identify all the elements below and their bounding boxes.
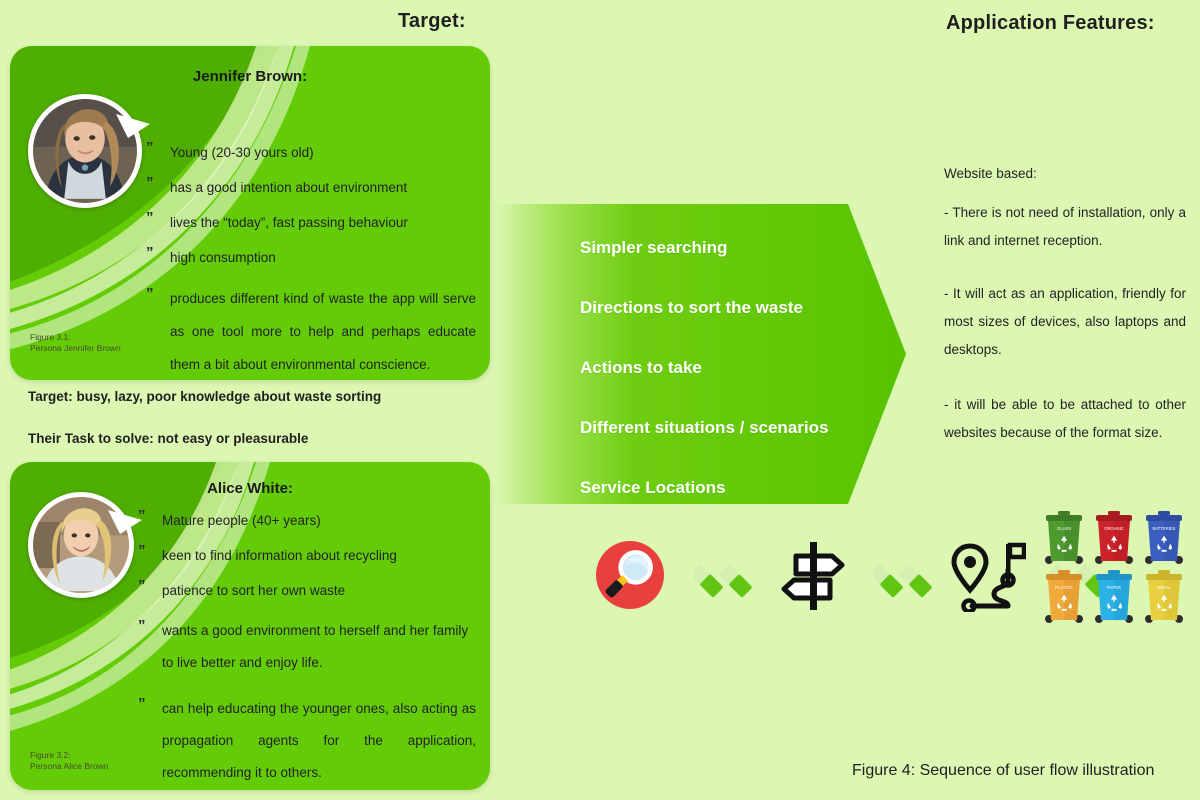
page-title-application-features: Application Features:	[946, 12, 1155, 35]
list-item: ” can help educating the younger ones, a…	[138, 693, 476, 789]
list-item: ” produces different kind of waste the a…	[146, 282, 476, 380]
bin-plastic: PLASTIC	[1045, 570, 1083, 623]
list-item: ” wants a good environment to herself an…	[138, 615, 476, 679]
chevron-double-right-icon	[694, 556, 760, 600]
figure-caption-jennifer: Figure 3.1: Persona Jennifer Brown	[30, 332, 121, 354]
feature-item-simpler-searching[interactable]: Simpler searching	[580, 218, 910, 278]
bin-label: BATTERIES	[1153, 526, 1176, 531]
bin-label: GLASS	[1057, 526, 1071, 531]
bin-batteries: BATTERIES	[1145, 511, 1183, 564]
quote-mark-icon: ”	[146, 242, 154, 263]
quote-mark-icon: ”	[146, 172, 154, 193]
persona-name-alice: Alice White:	[10, 480, 490, 497]
feature-list: Simpler searching Directions to sort the…	[580, 218, 910, 518]
feature-arrow-banner: Simpler searching Directions to sort the…	[494, 204, 906, 504]
figure-4-caption: Figure 4: Sequence of user flow illustra…	[852, 762, 1154, 780]
list-item: ” has a good intention about environment	[146, 177, 476, 198]
quote-mark-icon: ”	[146, 277, 154, 310]
bin-glass: GLASS	[1045, 511, 1083, 564]
list-item: ” patience to sort her own waste	[138, 580, 476, 601]
bin-label: METAL	[1157, 585, 1171, 590]
list-item: ” Young (20-30 yours old)	[146, 142, 476, 163]
search-magnifier-icon	[594, 539, 666, 611]
list-item: ” Mature people (40+ years)	[138, 510, 476, 531]
right-paragraph-application: - It will act as an application, friendl…	[944, 280, 1186, 364]
feature-item-service-locations[interactable]: Service Locations	[580, 458, 910, 518]
list-item: ” keen to find information about recycli…	[138, 545, 476, 566]
list-item: ” lives the “today”, fast passing behavi…	[146, 212, 476, 233]
statement-task: Their Task to solve: not easy or pleasur…	[28, 431, 308, 446]
bin-label: ORGANIC	[1104, 526, 1124, 531]
right-intro-website-based: Website based:	[944, 160, 1184, 187]
bin-metal: METAL	[1145, 570, 1183, 623]
quote-mark-icon: ”	[138, 688, 146, 720]
route-map-pin-icon	[950, 540, 1026, 612]
recycling-bins-icon: GLASSORGANICBATTERIESPLASTICPAPERMETAL	[1038, 508, 1198, 628]
persona-card-jennifer: Jennifer Brown: ” Young (20-30 yours old…	[10, 46, 490, 380]
persona-bullets-alice: ” Mature people (40+ years) ” keen to fi…	[138, 510, 476, 790]
page-title-target: Target:	[398, 10, 466, 33]
right-paragraph-installation: - There is not need of installation, onl…	[944, 199, 1186, 255]
bin-label: PAPER	[1107, 585, 1121, 590]
figure-caption-alice: Figure 3.2: Persona Alice Brown	[30, 750, 108, 772]
persona-name-jennifer: Jennifer Brown:	[10, 68, 490, 85]
feature-item-directions-to-sort-the-waste[interactable]: Directions to sort the waste	[580, 278, 910, 338]
chevron-double-right-icon	[874, 556, 940, 600]
list-item: ” high consumption	[146, 247, 476, 268]
feature-item-actions-to-take[interactable]: Actions to take	[580, 338, 910, 398]
quote-mark-icon: ”	[138, 505, 146, 526]
user-flow-icon-row: GLASSORGANICBATTERIESPLASTICPAPERMETAL	[590, 536, 1190, 620]
persona-card-alice: Alice White: ” Mature people (40+ years)…	[10, 462, 490, 790]
persona-bullets-jennifer: ” Young (20-30 yours old) ” has a good i…	[146, 142, 476, 380]
poster-canvas: Target: Application Features:	[0, 0, 1200, 800]
quote-mark-icon: ”	[138, 575, 146, 596]
feature-item-different-situations-scenarios[interactable]: Different situations / scenarios	[580, 398, 910, 458]
quote-mark-icon: ”	[138, 610, 146, 642]
bin-paper: PAPER	[1095, 570, 1133, 623]
signpost-directions-icon	[776, 538, 852, 614]
quote-mark-icon: ”	[138, 540, 146, 561]
quote-mark-icon: ”	[146, 207, 154, 228]
right-paragraph-attachable: - it will be able to be attached to othe…	[944, 391, 1186, 447]
quote-mark-icon: ”	[146, 137, 154, 158]
bin-label: PLASTIC	[1055, 585, 1072, 590]
bin-organic: ORGANIC	[1095, 511, 1133, 564]
statement-target: Target: busy, lazy, poor knowledge about…	[28, 389, 381, 404]
